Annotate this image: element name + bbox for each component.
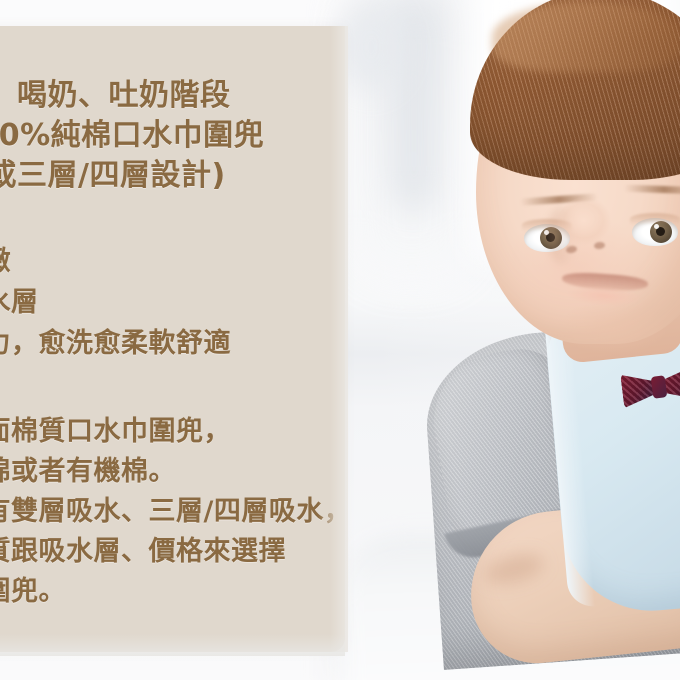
heading-line-1: 段：喝奶、吐奶階段 [0,70,231,114]
heading-line-3: 層或三層/四層設計) [0,150,226,194]
burgundy-navy-bowtie [620,364,680,411]
feature-line-2: 吸水層 [0,280,39,319]
description-line-4: 材質跟吸水層、價格來選擇 [0,529,286,568]
baby-hair-highlight [492,2,680,72]
feature-line-3: 水力，愈洗愈柔軟舒適 [0,321,231,360]
bowtie-knot [651,375,668,399]
description-line-2: 純棉或者有機棉。 [0,449,176,488]
feature-line-1: 細緻 [0,239,11,278]
description-line-5: 的圍兜。 [0,569,66,608]
description-line-1: 雙面棉質口水巾圍兜， [0,409,231,448]
baby-eyelid-right [630,213,680,225]
heading-line-2: 100%純棉口水巾圍兜 [0,110,264,154]
panel-text-block: 段：喝奶、吐奶階段 100%純棉口水巾圍兜 層或三層/四層設計) 細緻 吸水層 … [0,0,348,680]
infographic-canvas: 段：喝奶、吐奶階段 100%純棉口水巾圍兜 層或三層/四層設計) 細緻 吸水層 … [0,0,680,680]
baby-chin [558,300,668,354]
description-line-3: 則有雙層吸水、三層/四層吸水， [0,489,348,528]
